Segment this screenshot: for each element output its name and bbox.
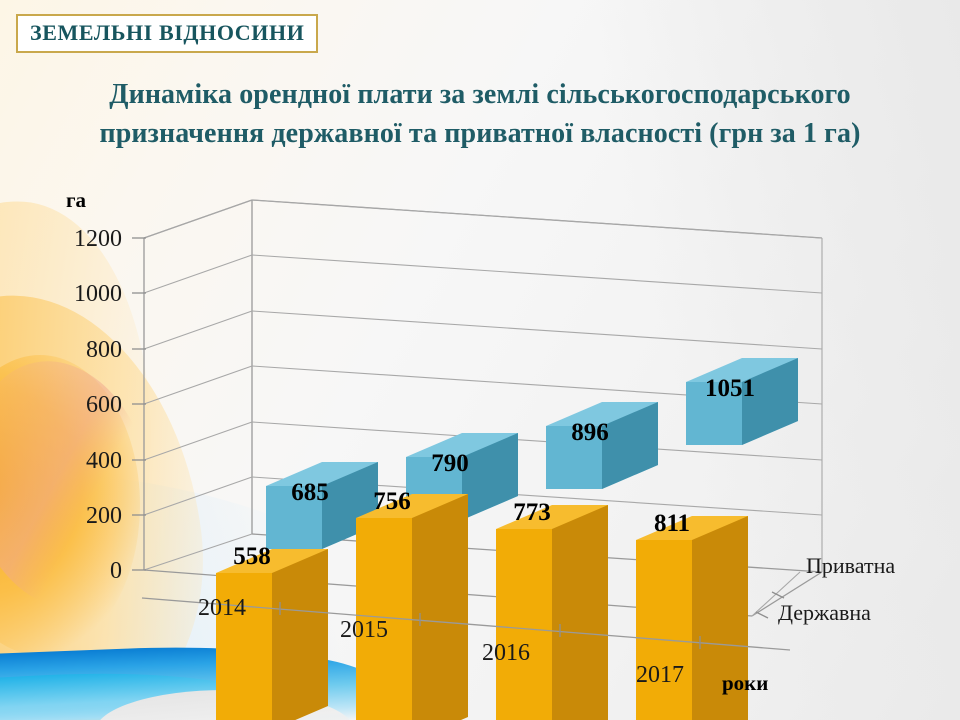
value-label-2014-private: 685 — [291, 479, 329, 506]
value-label-2017-private: 1051 — [705, 375, 755, 402]
y-tick-800: 800 — [86, 337, 122, 363]
bar-group-2014: 558 685 — [216, 462, 378, 720]
series-label-private: Приватна — [806, 553, 895, 578]
category-label-2016: 2016 — [482, 640, 530, 666]
y-axis-title: га — [66, 188, 87, 212]
value-label-2015-state: 756 — [373, 488, 411, 515]
page-title-line-2: призначення державної та приватної власн… — [30, 115, 930, 154]
section-badge: ЗЕМЕЛЬНІ ВІДНОСИНИ — [16, 14, 318, 53]
page-title-line-1: Динаміка орендної плати за землі сільськ… — [30, 76, 930, 115]
y-axis-tick-labels: 1200 1000 800 600 400 200 0 — [74, 226, 122, 584]
value-label-2016-private: 896 — [571, 419, 609, 446]
value-label-2017-state: 811 — [654, 510, 690, 537]
page-title: Динаміка орендної плати за землі сільськ… — [30, 76, 930, 153]
y-tick-200: 200 — [86, 503, 122, 529]
bar-2015-state — [356, 494, 468, 720]
bar-chart-3d: га 1200 1000 800 600 400 200 0 — [0, 160, 960, 720]
bar-group-2015: 756 790 — [356, 433, 518, 720]
bar-2014-state — [216, 549, 328, 720]
y-tick-400: 400 — [86, 448, 122, 474]
bar-group-2016: 773 896 — [496, 402, 658, 720]
value-label-2014-state: 558 — [233, 543, 271, 570]
category-label-2014: 2014 — [198, 595, 246, 621]
slide-canvas: ЗЕМЕЛЬНІ ВІДНОСИНИ Динаміка орендної пла… — [0, 0, 960, 720]
series-label-state: Державна — [778, 600, 871, 625]
category-label-2015: 2015 — [340, 617, 388, 643]
y-tick-0: 0 — [110, 558, 122, 584]
chart-svg: га 1200 1000 800 600 400 200 0 — [0, 160, 960, 720]
x-axis-title: роки — [722, 671, 768, 695]
value-label-2015-private: 790 — [431, 450, 469, 477]
category-label-2017: 2017 — [636, 662, 684, 688]
value-label-2016-state: 773 — [513, 499, 551, 526]
bar-2016-state — [496, 505, 608, 720]
y-tick-1200: 1200 — [74, 226, 122, 252]
y-tick-600: 600 — [86, 392, 122, 418]
y-tick-1000: 1000 — [74, 281, 122, 307]
